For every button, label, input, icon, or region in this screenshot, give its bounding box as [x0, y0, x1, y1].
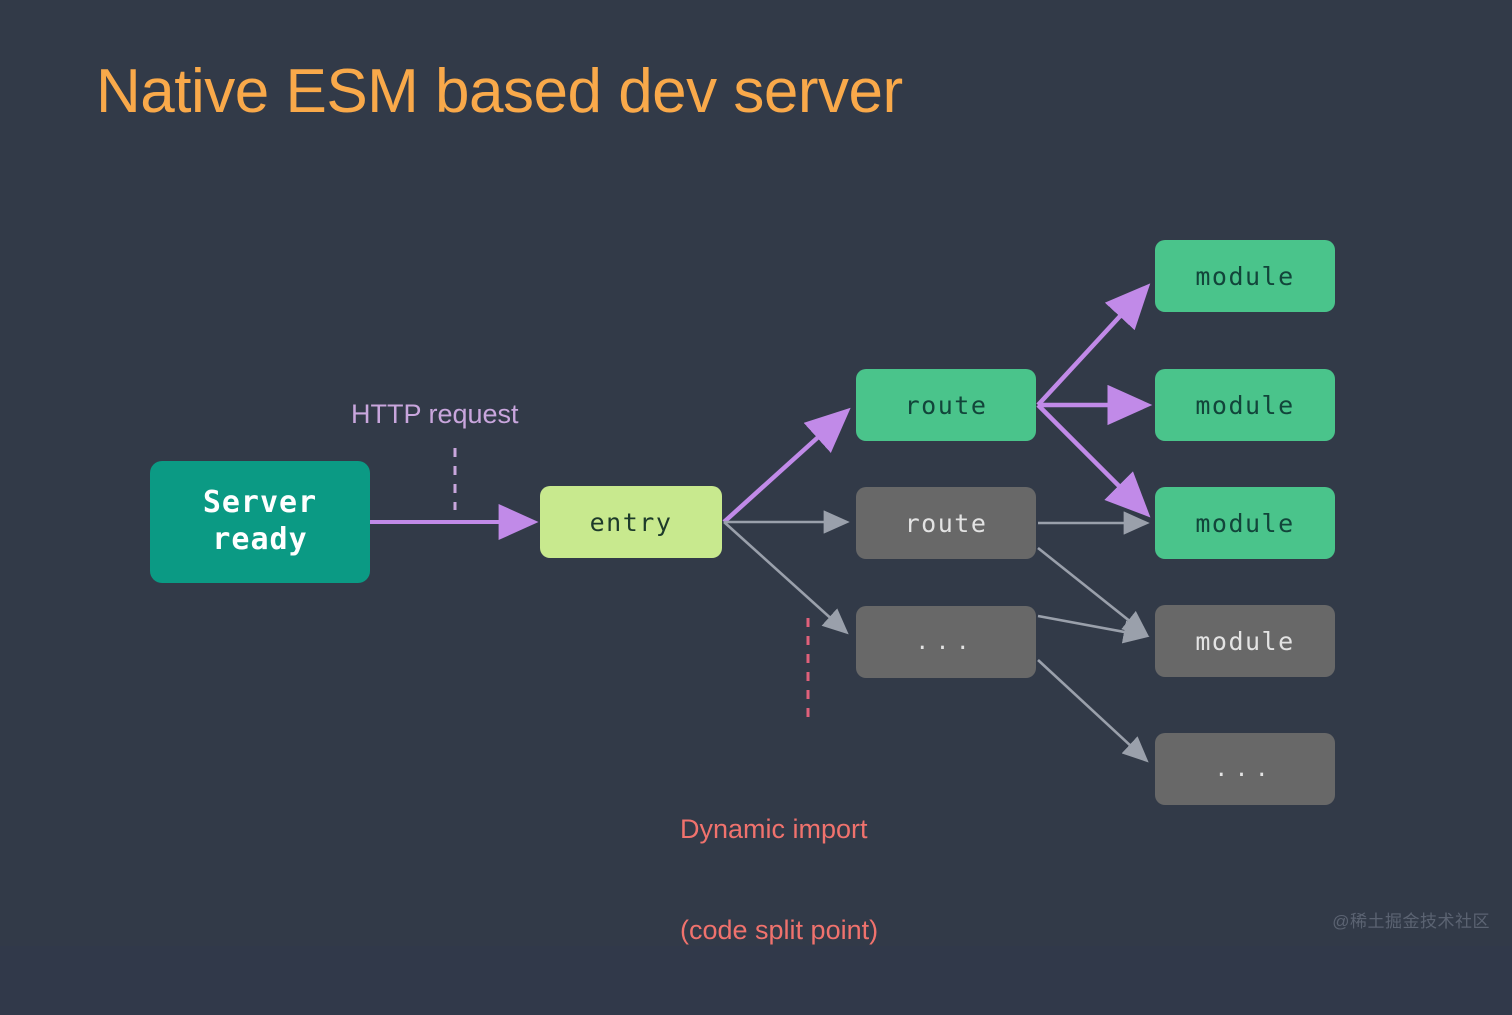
watermark: @稀土掘金技术社区: [1332, 907, 1490, 932]
node-module-2[interactable]: module: [1155, 369, 1335, 441]
edge-entry-to-route-dots: [724, 522, 846, 632]
node-server-ready-line1: Server: [203, 485, 317, 522]
node-route-active[interactable]: route: [856, 369, 1036, 441]
dynamic-import-label-line1: Dynamic import: [680, 813, 878, 847]
node-route-inactive[interactable]: route: [856, 487, 1036, 559]
page-title: Native ESM based dev server: [96, 56, 903, 127]
slide-canvas: Native ESM based dev server: [0, 0, 1512, 946]
dynamic-import-label: Dynamic import (code split point): [680, 745, 878, 1015]
node-server-ready-line2: ready: [212, 522, 307, 559]
dynamic-import-label-line2: (code split point): [680, 914, 878, 948]
node-module-4[interactable]: module: [1155, 605, 1335, 677]
node-module-3[interactable]: module: [1155, 487, 1335, 559]
edge-route-dots-to-module-5: [1038, 660, 1146, 760]
node-entry[interactable]: entry: [540, 486, 722, 558]
edge-route-to-module-1: [1038, 288, 1146, 405]
node-route-dots[interactable]: ...: [856, 606, 1036, 678]
node-module-1[interactable]: module: [1155, 240, 1335, 312]
http-request-label: HTTP request: [351, 398, 519, 432]
edge-route-to-module-3: [1038, 405, 1146, 513]
edge-entry-to-route-active: [724, 412, 846, 522]
node-module-5[interactable]: ...: [1155, 733, 1335, 805]
edge-route-inactive-to-module-4: [1038, 548, 1146, 634]
node-server-ready[interactable]: Server ready: [150, 461, 370, 583]
edge-route-dots-to-module-4: [1038, 616, 1146, 636]
